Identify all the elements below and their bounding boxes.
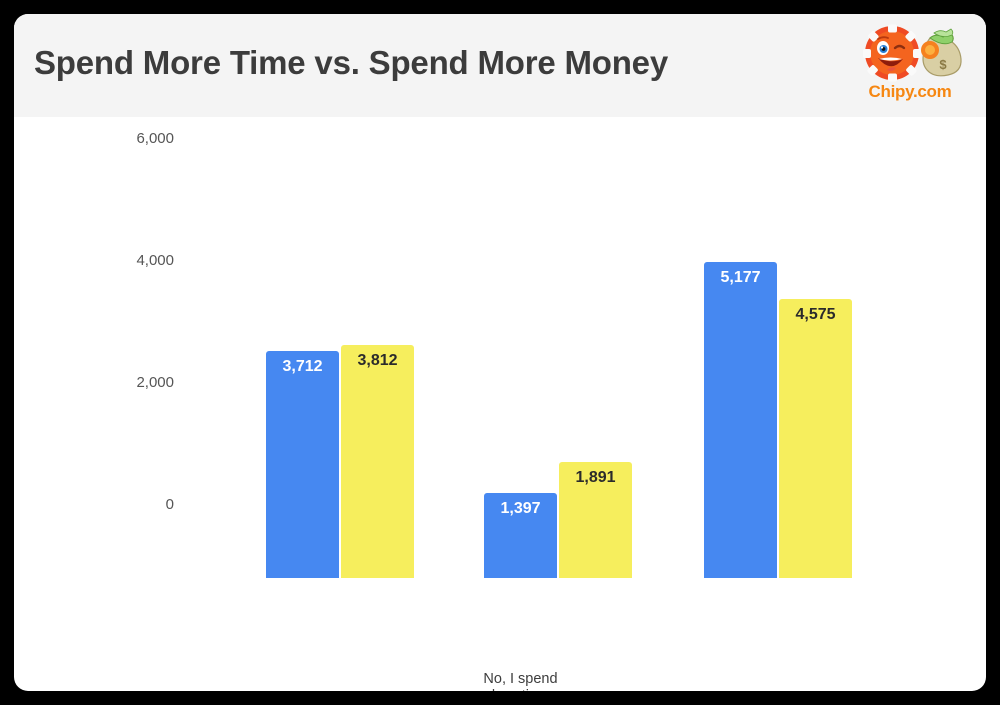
bar-yellow-3812[interactable] [341,345,414,578]
chipy-casino-chip-mascot-with-money-bag-icon: $ [850,24,970,82]
bar-group-more: 5,177 Yes, I spend more time gambling 4,… [704,212,850,578]
x-axis-category-label: No, I spend less time gambling [478,671,563,691]
bar-yellow-4575[interactable] [779,299,852,578]
bar-value-label: 5,177 [704,270,777,286]
bar-blue-5177[interactable] [704,262,777,578]
bar-value-label: 3,812 [341,353,414,369]
bar-value-label: 4,575 [779,307,852,323]
bar-value-label: 1,891 [559,470,632,486]
y-axis-tick-6000: 6,000 [104,131,174,146]
bar-value-label: 1,397 [484,501,557,517]
page-title: Spend More Time vs. Spend More Money [34,44,668,82]
svg-text:$: $ [939,57,947,72]
chart-card: Spend More Time vs. Spend More Money $ [14,14,986,691]
bar-blue-3712[interactable] [266,351,339,578]
y-axis-tick-2000: 2,000 [104,375,174,390]
bar-chart-plot-area: 0 2,000 4,000 6,000 3,712 I gamble the s… [14,117,986,691]
bar-value-label: 3,712 [266,359,339,375]
y-axis-tick-4000: 4,000 [104,253,174,268]
chipy-logo[interactable]: $ [850,22,970,112]
y-axis-tick-0: 0 [104,497,174,512]
bar-group-less: 1,397 No, I spend less time gambling 1,8… [484,212,630,578]
chart-header: Spend More Time vs. Spend More Money $ [14,14,986,117]
bar-group-same: 3,712 I gamble the same as before 3,812 … [266,212,412,578]
logo-text: Chipy.com [850,82,970,102]
